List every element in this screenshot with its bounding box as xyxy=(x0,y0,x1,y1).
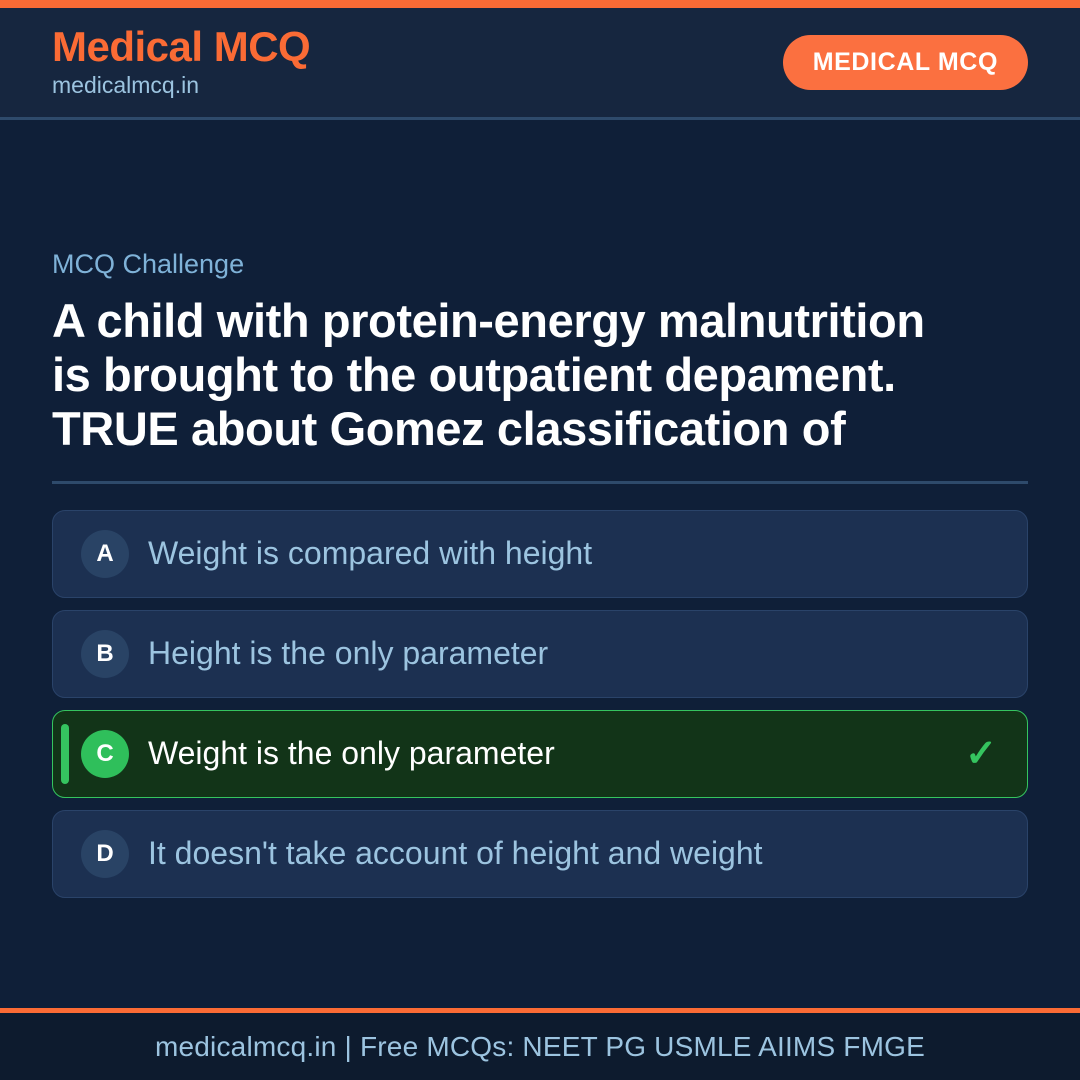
option-d[interactable]: D It doesn't take account of height and … xyxy=(52,810,1028,898)
option-label: Weight is compared with height xyxy=(148,534,997,572)
mcq-card: Medical MCQ medicalmcq.in MEDICAL MCQ MC… xyxy=(0,0,1080,1080)
option-letter-badge: D xyxy=(81,830,129,878)
option-label: Weight is the only parameter xyxy=(148,734,965,772)
option-label: It doesn't take account of height and we… xyxy=(148,834,997,872)
options-list: A Weight is compared with height ✓ B Hei… xyxy=(52,510,1028,898)
brand: Medical MCQ medicalmcq.in xyxy=(52,25,310,101)
option-label: Height is the only parameter xyxy=(148,634,997,672)
brand-title: Medical MCQ xyxy=(52,25,310,69)
kicker-label: MCQ Challenge xyxy=(52,248,1028,280)
brand-badge[interactable]: MEDICAL MCQ xyxy=(783,35,1028,90)
top-accent-strip xyxy=(0,0,1080,8)
footer-bar: medicalmcq.in | Free MCQs: NEET PG USMLE… xyxy=(0,1008,1080,1080)
option-letter-badge: A xyxy=(81,530,129,578)
option-a[interactable]: A Weight is compared with height ✓ xyxy=(52,510,1028,598)
footer-text: medicalmcq.in | Free MCQs: NEET PG USMLE… xyxy=(155,1031,925,1063)
option-letter-badge: B xyxy=(81,630,129,678)
option-letter-badge: C xyxy=(81,730,129,778)
option-c[interactable]: C Weight is the only parameter ✓ xyxy=(52,710,1028,798)
correct-accent-bar xyxy=(61,724,69,784)
option-b[interactable]: B Height is the only parameter ✓ xyxy=(52,610,1028,698)
question-text: A child with protein-energy malnutrition… xyxy=(52,294,952,456)
question-divider xyxy=(52,481,1028,484)
brand-subtitle: medicalmcq.in xyxy=(52,71,310,101)
header-bar: Medical MCQ medicalmcq.in MEDICAL MCQ xyxy=(0,8,1080,120)
main-content: MCQ Challenge A child with protein-energ… xyxy=(0,120,1080,1008)
check-icon: ✓ xyxy=(965,735,997,773)
